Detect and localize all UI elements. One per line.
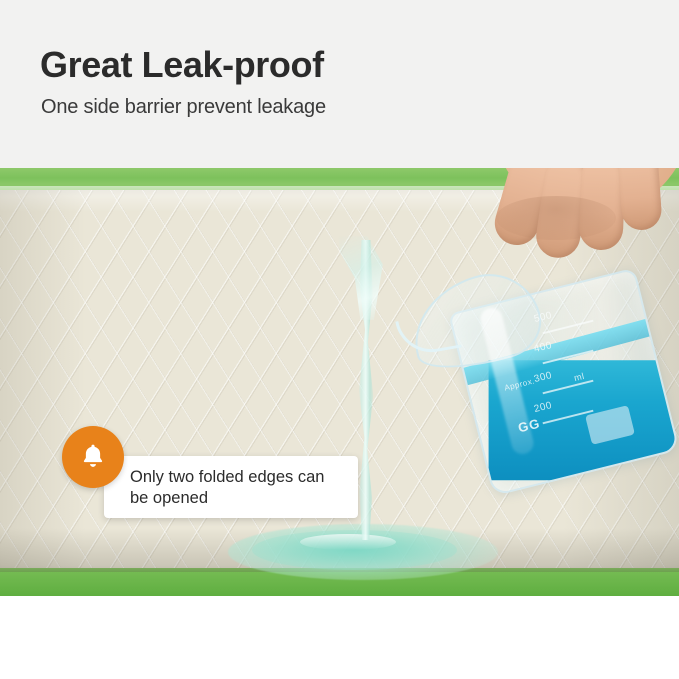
page-subtitle: One side barrier prevent leakage xyxy=(41,96,326,119)
product-infographic: Great Leak-proof One side barrier preven… xyxy=(0,0,679,679)
callout-badge xyxy=(62,426,124,488)
hand-shadow xyxy=(496,196,616,240)
mat-left-shading xyxy=(0,190,86,568)
hand xyxy=(434,168,679,250)
bell-icon xyxy=(78,441,108,471)
callout-text: Only two folded edges can be opened xyxy=(130,467,346,509)
footer-band xyxy=(0,596,679,679)
glass-beaker: 500 400 300 ml 200 Approx. GG xyxy=(392,272,660,482)
stream-head xyxy=(338,236,394,320)
callout-box: Only two folded edges can be opened xyxy=(104,456,358,518)
product-photo: 500 400 300 ml 200 Approx. GG Only two f… xyxy=(0,168,679,596)
page-title: Great Leak-proof xyxy=(40,44,324,86)
finger xyxy=(617,168,662,231)
header-band: Great Leak-proof One side barrier preven… xyxy=(0,0,679,172)
